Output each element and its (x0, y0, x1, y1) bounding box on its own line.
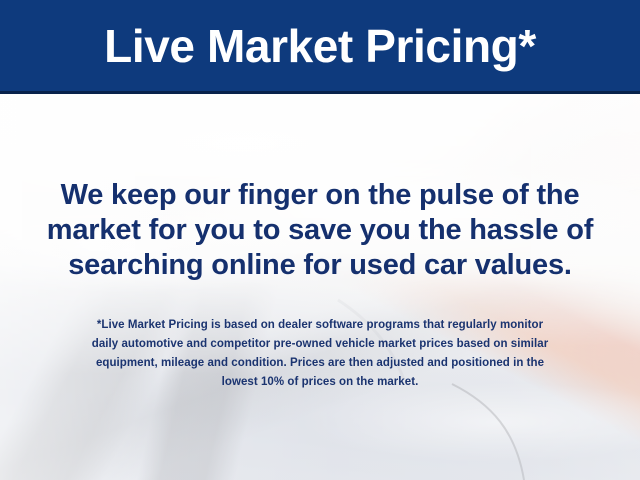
page-title: Live Market Pricing* (104, 23, 536, 72)
disclaimer-line-3: equipment, mileage and condition. Prices… (0, 354, 640, 373)
disclaimer-line-2: daily automotive and competitor pre-owne… (0, 335, 640, 354)
headline-line-3: searching online for used car values. (0, 248, 640, 283)
headline: We keep our finger on the pulse of the m… (0, 178, 640, 283)
headline-line-2: market for you to save you the hassle of (0, 213, 640, 248)
headline-line-1: We keep our finger on the pulse of the (0, 178, 640, 213)
disclaimer-line-4: lowest 10% of prices on the market. (0, 373, 640, 392)
disclaimer: *Live Market Pricing is based on dealer … (0, 316, 640, 392)
disclaimer-line-1: *Live Market Pricing is based on dealer … (0, 316, 640, 335)
header-band: Live Market Pricing* (0, 0, 640, 94)
live-market-pricing-banner: Live Market Pricing* We keep our finger … (0, 0, 640, 480)
